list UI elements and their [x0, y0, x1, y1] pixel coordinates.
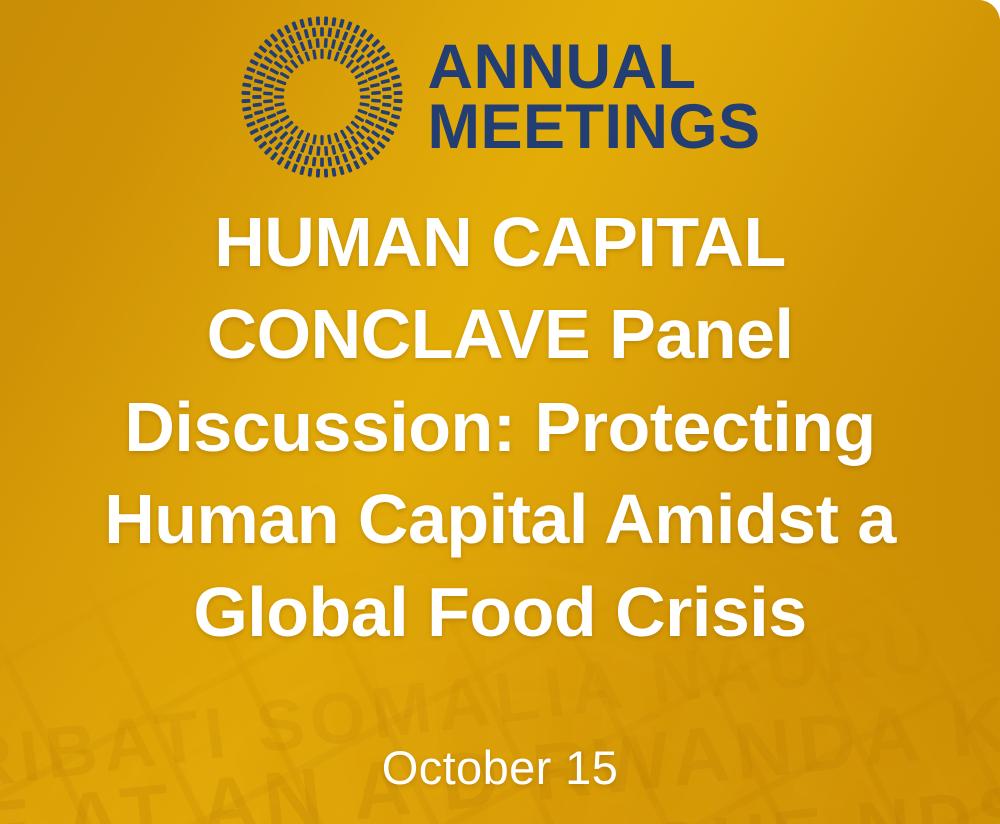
- title-line: CONCLAVE Panel: [24, 288, 976, 380]
- annual-meetings-wordmark: ANNUAL MEETINGS: [427, 38, 760, 158]
- event-date: October 15: [0, 742, 1000, 794]
- event-title: HUMAN CAPITAL CONCLAVE Panel Discussion:…: [0, 196, 1000, 658]
- title-line: HUMAN CAPITAL: [24, 196, 976, 288]
- title-line: Discussion: Protecting: [24, 381, 976, 473]
- annual-meetings-logo: ANNUAL MEETINGS: [0, 14, 1000, 180]
- annual-meetings-sunburst-icon: [239, 14, 405, 180]
- banner-content: ANNUAL MEETINGS HUMAN CAPITAL CONCLAVE P…: [0, 0, 1000, 824]
- title-line: Global Food Crisis: [24, 566, 976, 658]
- title-line: Human Capital Amidst a: [24, 473, 976, 565]
- wordmark-line-annual: ANNUAL: [427, 38, 760, 98]
- wordmark-line-meetings: MEETINGS: [427, 98, 760, 158]
- event-banner: KIRIBATI SOMALIA NAURU VANUATU TUVALU PA…: [0, 0, 1000, 824]
